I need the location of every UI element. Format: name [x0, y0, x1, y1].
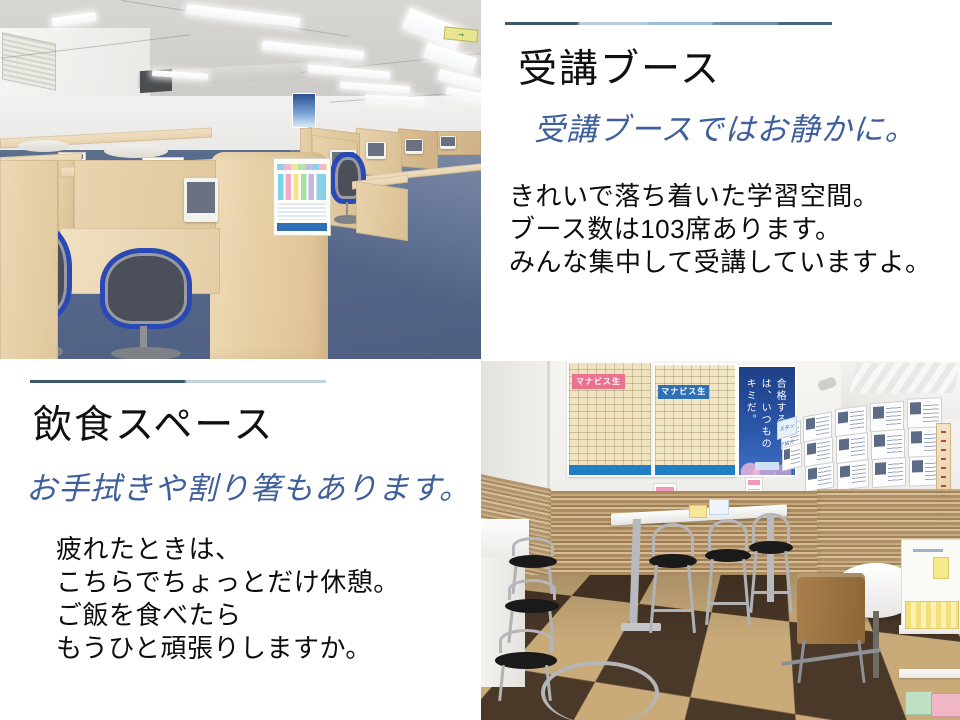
divider-rule — [30, 380, 326, 383]
poster-manavis-blue: マナビス生 — [653, 363, 737, 477]
far-wall-poster — [292, 93, 316, 128]
dining-description: 疲れたときは、 こちらでちょっとだけ休憩。 ご飯を食べたら もうひと頑張りします… — [56, 533, 400, 665]
poster-manavis-pink: マナビス生 — [567, 361, 653, 477]
staff-sheet — [872, 457, 906, 488]
staff-sheet — [871, 429, 905, 460]
bar-stool-backrest — [541, 661, 659, 720]
booth-partition — [0, 160, 58, 359]
booths-title: 受講ブース — [518, 38, 721, 94]
dining-title: 飲食スペース — [33, 394, 274, 450]
slide-root: → — [0, 0, 960, 720]
desk-tray — [104, 144, 168, 158]
booths-tagline: 受講ブースではお静かに。 — [534, 104, 916, 149]
booth-chair — [100, 248, 192, 359]
wooden-chair — [797, 573, 865, 681]
bar-stool — [705, 519, 751, 625]
booths-description: きれいで落ち着いた学習空間。 ブース数は103席あります。 みんな集中して受講し… — [509, 180, 931, 279]
photo-study-booths: → — [0, 0, 481, 359]
booth-monitor — [184, 178, 218, 222]
dining-tagline: お手拭きや割り箸もあります。 — [26, 463, 471, 508]
ceiling-tile — [850, 363, 960, 393]
booth-monitor — [366, 142, 386, 159]
panel-booths-text: 受講ブース 受講ブースではお静かに。 きれいで落ち着いた学習空間。 ブース数は1… — [481, 0, 960, 359]
desk-tray — [18, 140, 70, 152]
booth-partition — [356, 181, 408, 241]
storage-box — [905, 691, 933, 715]
tissue-box — [905, 601, 959, 629]
booth-monitor — [440, 136, 456, 149]
booth-monitor — [405, 139, 423, 154]
counter-item-box — [689, 505, 707, 518]
counter-sign — [709, 499, 729, 515]
photo-dining-space: マナビス生 マナビス生 合格するのは、いつものキミだ。 — [481, 361, 960, 720]
divider-rule — [505, 22, 832, 25]
shelf-board — [899, 669, 960, 678]
booth-info-poster — [273, 158, 331, 236]
staff-sheet — [837, 459, 869, 491]
board-line — [913, 549, 943, 552]
storage-box — [931, 693, 960, 717]
panel-dining-text: 飲食スペース お手拭きや割り箸もあります。 疲れたときは、 こちらでちょっとだけ… — [0, 361, 481, 720]
bar-stool — [649, 523, 697, 633]
staff-sheet — [805, 461, 834, 492]
board-note — [933, 557, 949, 579]
bar-stool — [749, 513, 793, 613]
staff-sheet — [870, 401, 904, 432]
staff-introduction-board: スタッフ紹介 — [781, 397, 941, 493]
